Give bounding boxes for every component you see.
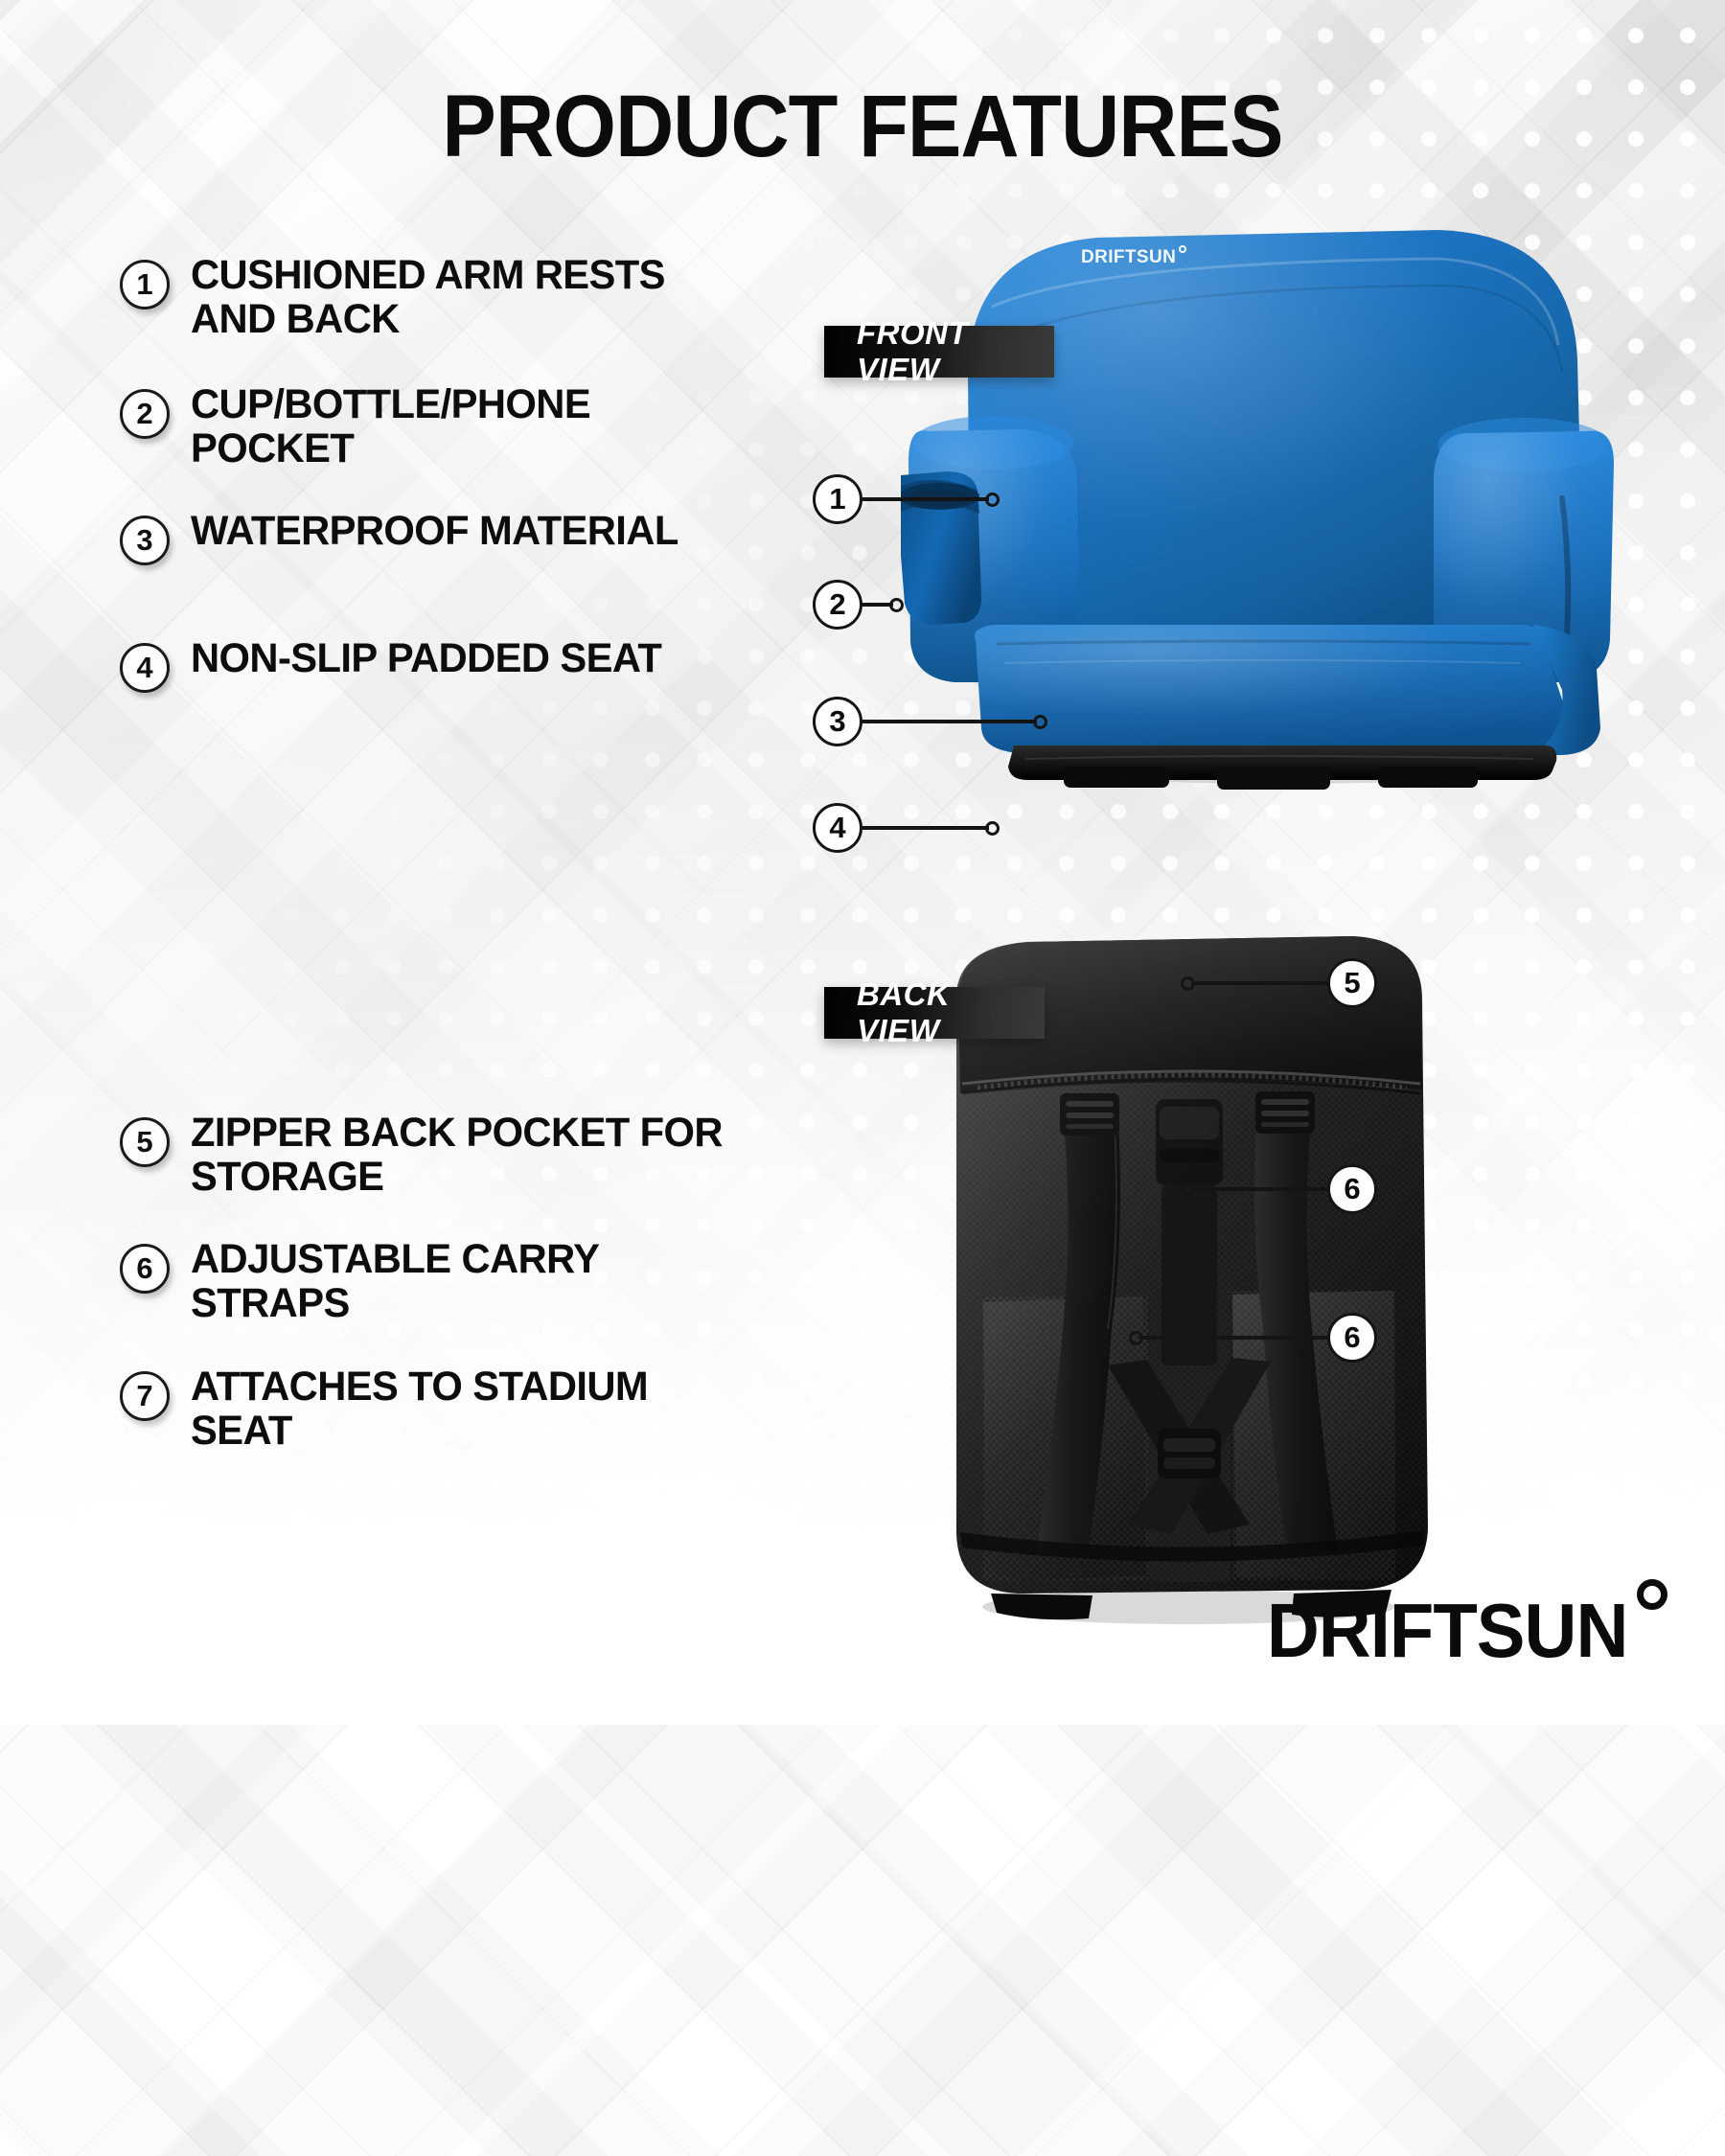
feature-label-3: WATERPROOF MATERIAL bbox=[191, 510, 678, 554]
brand-logo: DRIFTSUN bbox=[1248, 1594, 1667, 1667]
callout-number-5: 5 bbox=[1327, 958, 1377, 1008]
feature-item-7: 7 ATTACHES TO STADIUM SEAT bbox=[120, 1365, 752, 1453]
chair-brand-logo-text: DRIFTSUN bbox=[1081, 247, 1176, 268]
feature-item-6: 6 ADJUSTABLE CARRY STRAPS bbox=[120, 1238, 752, 1325]
callout-number-6b: 6 bbox=[1327, 1313, 1377, 1363]
feature-item-4: 4 NON-SLIP PADDED SEAT bbox=[120, 637, 752, 693]
callout-leader-line-1 bbox=[862, 497, 989, 501]
callout-endpoint-4 bbox=[985, 821, 1000, 836]
callout-leader-line-5 bbox=[1191, 981, 1327, 985]
callout-leader-line-3 bbox=[862, 720, 1037, 723]
feature-number-2: 2 bbox=[120, 389, 170, 439]
callout-leader-line-4 bbox=[862, 826, 989, 830]
callout-endpoint-2 bbox=[889, 598, 904, 612]
callout-endpoint-3 bbox=[1033, 715, 1047, 729]
feature-number-3: 3 bbox=[120, 516, 170, 565]
feature-label-5: ZIPPER BACK POCKET FOR STORAGE bbox=[191, 1112, 735, 1199]
feature-number-7: 7 bbox=[120, 1371, 170, 1421]
callout-front-4: 4 bbox=[813, 803, 1000, 853]
feature-item-2: 2 CUP/BOTTLE/PHONE POCKET bbox=[120, 383, 752, 470]
callout-number-3: 3 bbox=[813, 697, 862, 746]
callout-number-1: 1 bbox=[813, 474, 862, 524]
front-view-badge: FRONT VIEW bbox=[824, 326, 1054, 378]
chair-brand-ring-icon bbox=[1179, 245, 1186, 253]
back-view-badge: BACK VIEW bbox=[824, 987, 1045, 1039]
feature-item-1: 1 CUSHIONED ARM RESTS AND BACK bbox=[120, 254, 752, 341]
callout-front-3: 3 bbox=[813, 697, 1047, 746]
feature-label-4: NON-SLIP PADDED SEAT bbox=[191, 637, 661, 681]
feature-item-3: 3 WATERPROOF MATERIAL bbox=[120, 510, 752, 565]
callout-leader-line-6a bbox=[1191, 1187, 1327, 1191]
feature-number-4: 4 bbox=[120, 643, 170, 693]
feature-label-7: ATTACHES TO STADIUM SEAT bbox=[191, 1365, 735, 1453]
callout-front-1: 1 bbox=[813, 474, 1000, 524]
callout-number-4: 4 bbox=[813, 803, 862, 853]
feature-item-5: 5 ZIPPER BACK POCKET FOR STORAGE bbox=[120, 1112, 752, 1199]
callout-back-5: 5 bbox=[1181, 958, 1377, 1008]
callout-back-6a: 6 bbox=[1181, 1164, 1377, 1214]
brand-ring-icon bbox=[1637, 1579, 1667, 1610]
feature-label-1: CUSHIONED ARM RESTS AND BACK bbox=[191, 254, 735, 341]
callout-number-2: 2 bbox=[813, 580, 862, 630]
callout-endpoint-1 bbox=[985, 493, 1000, 507]
callout-leader-line-6b bbox=[1139, 1336, 1327, 1340]
callout-front-2: 2 bbox=[813, 580, 904, 630]
back-view-badge-label: BACK VIEW bbox=[857, 976, 1020, 1049]
feature-number-5: 5 bbox=[120, 1117, 170, 1167]
front-view-badge-label: FRONT VIEW bbox=[857, 315, 1029, 388]
feature-label-2: CUP/BOTTLE/PHONE POCKET bbox=[191, 383, 735, 470]
callout-number-6a: 6 bbox=[1327, 1164, 1377, 1214]
callout-back-6b: 6 bbox=[1129, 1313, 1377, 1363]
brand-logo-text: DRIFTSUN bbox=[1266, 1594, 1627, 1667]
page-title: PRODUCT FEATURES bbox=[69, 77, 1656, 177]
feature-number-6: 6 bbox=[120, 1244, 170, 1294]
feature-number-1: 1 bbox=[120, 260, 170, 310]
feature-label-6: ADJUSTABLE CARRY STRAPS bbox=[191, 1238, 735, 1325]
chair-brand-logo: DRIFTSUN bbox=[1081, 247, 1186, 268]
